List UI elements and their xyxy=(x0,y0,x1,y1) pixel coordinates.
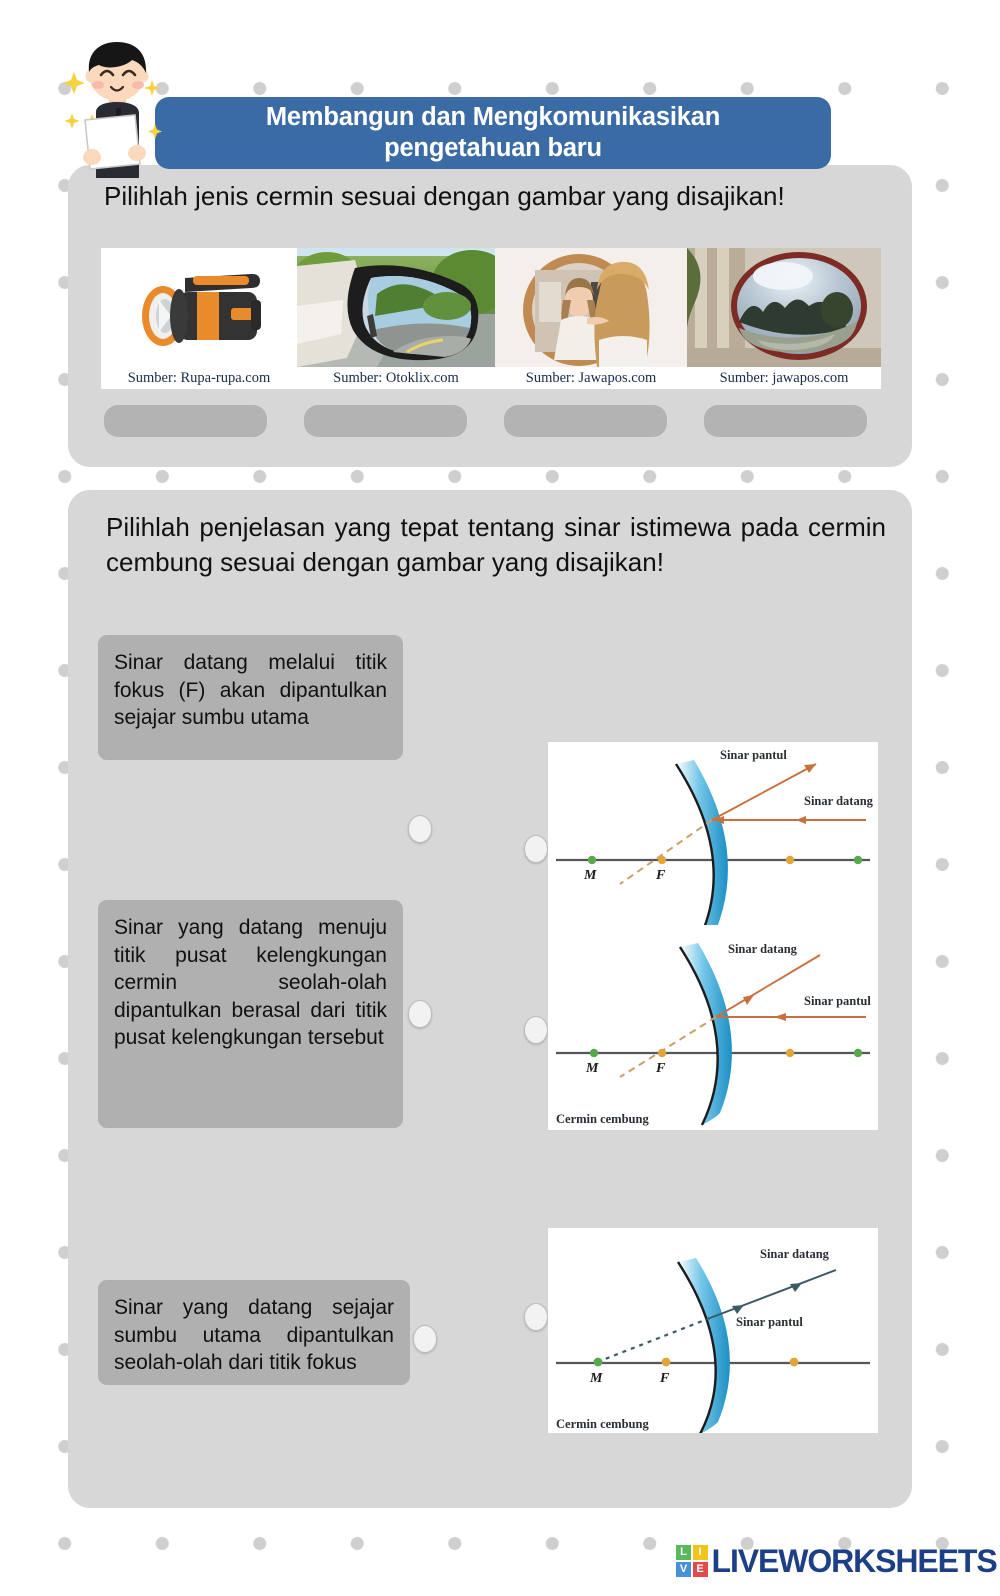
image-cell-round-mirror: Sumber: Jawapos.com xyxy=(495,248,687,389)
caption-flashlight: Sumber: Rupa-rupa.com xyxy=(101,367,297,389)
convex-traffic-mirror-image xyxy=(687,248,881,367)
caption-convex-traffic-mirror: Sumber: jawapos.com xyxy=(687,367,881,389)
section-banner: Membangun dan Mengkomunikasikan pengetah… xyxy=(155,97,831,169)
option-row-1: Sinar datang melalui titik fokus (F) aka… xyxy=(68,620,912,835)
image-cell-convex-traffic-mirror: Sumber: jawapos.com xyxy=(687,248,881,389)
header: Membangun dan Mengkomunikasikan pengetah… xyxy=(0,0,1000,180)
answer-dropdown-4[interactable] xyxy=(704,405,867,437)
caption-round-mirror: Sumber: Jawapos.com xyxy=(495,367,687,389)
logo-letter-v: V xyxy=(676,1562,691,1577)
image-cell-car-mirror: Sumber: Otoklix.com xyxy=(297,248,495,389)
label-point-f: F xyxy=(655,868,666,883)
image-cell-flashlight: Sumber: Rupa-rupa.com xyxy=(101,248,297,389)
option-2-right-connector[interactable] xyxy=(524,1016,548,1044)
option-2-text[interactable]: Sinar yang datang menuju titik pusat kel… xyxy=(98,900,403,1128)
answer-dropdown-1[interactable] xyxy=(104,405,267,437)
option-row-3: Sinar yang datang sejajar sumbu utama di… xyxy=(68,1215,912,1440)
label-sinar-datang: Sinar datang xyxy=(760,1247,830,1261)
banner-title-line-1: Membangun dan Mengkomunikasikan xyxy=(266,102,720,133)
question-1-prompt: Pilihlah jenis cermin sesuai dengan gamb… xyxy=(104,179,882,214)
option-2-left-connector[interactable] xyxy=(408,1000,432,1028)
answer-dropdown-3[interactable] xyxy=(504,405,667,437)
liveworksheets-brand-text: LIVEWORKSHEETS xyxy=(712,1543,997,1580)
logo-letter-i: I xyxy=(693,1545,708,1560)
question-1-answer-row xyxy=(101,405,881,437)
label-sinar-datang: Sinar datang xyxy=(728,942,798,956)
label-point-m: M xyxy=(583,868,597,883)
banner-title-line-2: pengetahuan baru xyxy=(384,133,602,164)
question-2-prompt: Pilihlah penjelasan yang tepat tentang s… xyxy=(106,510,886,580)
label-point-m: M xyxy=(585,1061,599,1076)
logo-letter-e: E xyxy=(693,1562,708,1577)
senter-flashlight-image xyxy=(101,248,297,367)
label-sinar-pantul: Sinar pantul xyxy=(720,748,787,762)
question-1-image-strip: Sumber: Rupa-rupa.com xyxy=(101,248,881,389)
boy-with-paper-illustration xyxy=(52,36,172,181)
option-3-right-connector[interactable] xyxy=(524,1303,548,1331)
label-point-f: F xyxy=(655,1061,666,1076)
liveworksheets-footer: L I V E LIVEWORKSHEETS xyxy=(676,1541,997,1581)
label-cermin-cembung: Cermin cembung xyxy=(556,1112,649,1126)
logo-letter-l: L xyxy=(676,1545,691,1560)
label-point-m: M xyxy=(589,1371,603,1386)
label-sinar-pantul: Sinar pantul xyxy=(736,1315,803,1329)
option-1-left-connector[interactable] xyxy=(408,815,432,843)
answer-dropdown-2[interactable] xyxy=(304,405,467,437)
caption-car-mirror: Sumber: Otoklix.com xyxy=(297,367,495,389)
liveworksheets-logo-icon: L I V E xyxy=(676,1545,708,1577)
car-side-mirror-image xyxy=(297,248,495,367)
label-sinar-datang: Sinar datang xyxy=(804,794,874,808)
option-1-text[interactable]: Sinar datang melalui titik fokus (F) aka… xyxy=(98,635,403,760)
question-1-card: Pilihlah jenis cermin sesuai dengan gamb… xyxy=(68,165,912,467)
woman-round-mirror-image xyxy=(495,248,687,367)
option-3-left-connector[interactable] xyxy=(413,1325,437,1353)
option-1-right-connector[interactable] xyxy=(524,835,548,863)
diagram-ray-toward-center: M F Sinar datang Sinar pantul Cermin cem… xyxy=(548,925,878,1130)
option-row-2: Sinar yang datang menuju titik pusat kel… xyxy=(68,900,912,1125)
option-3-text[interactable]: Sinar yang datang sejajar sumbu utama di… xyxy=(98,1280,410,1385)
label-cermin-cembung: Cermin cembung xyxy=(556,1417,649,1431)
label-sinar-pantul: Sinar pantul xyxy=(804,994,871,1008)
question-2-card: Pilihlah penjelasan yang tepat tentang s… xyxy=(68,490,912,1508)
label-point-f: F xyxy=(659,1371,670,1386)
diagram-ray-parallel-axis: M F Sinar datang Sinar pantul Cermin cem… xyxy=(548,1228,878,1433)
